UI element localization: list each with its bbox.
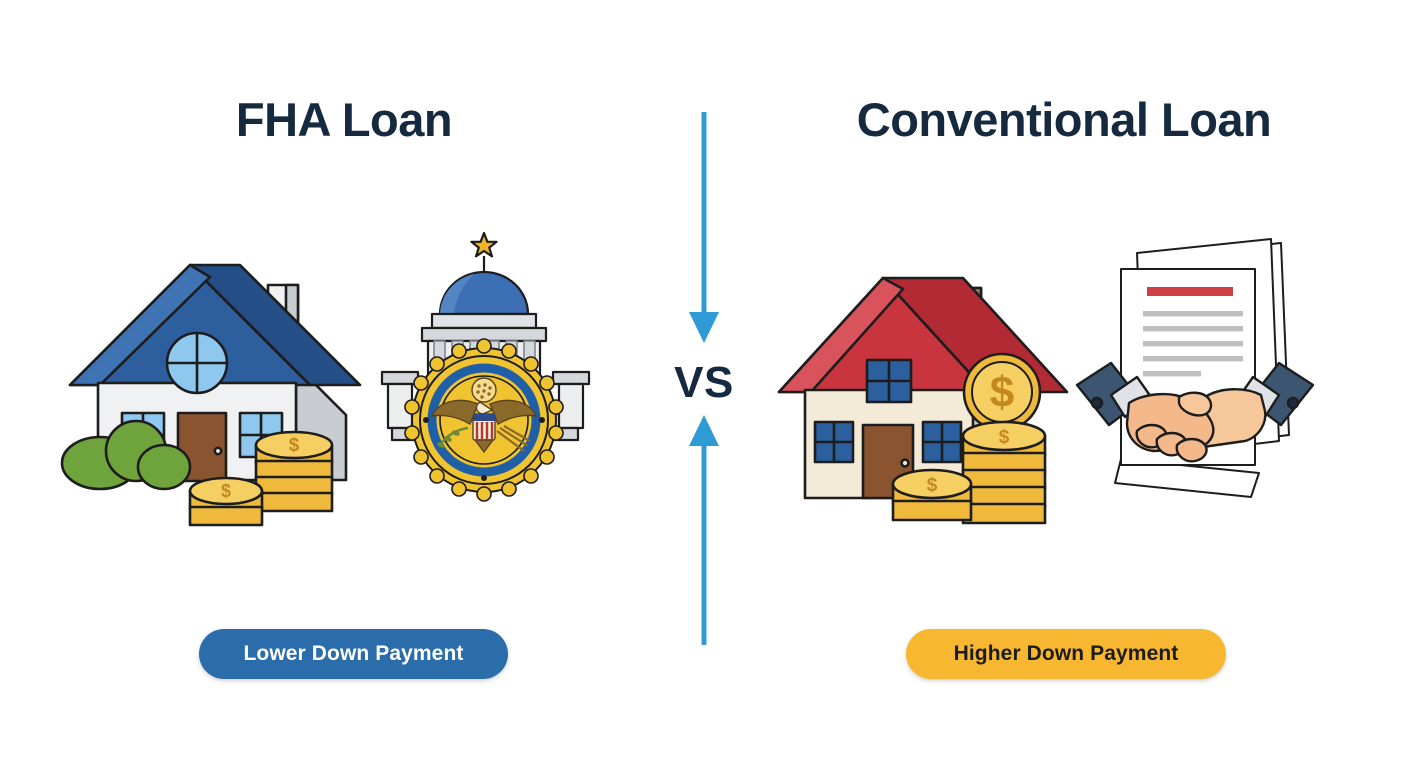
conventional-house-illustration: $ $ $ <box>775 270 1085 545</box>
svg-text:$: $ <box>990 368 1014 417</box>
badge-lower-down-payment[interactable]: Lower Down Payment <box>199 629 508 679</box>
vs-label: VS <box>640 358 768 408</box>
handshake-contract-illustration <box>1075 235 1315 525</box>
badge-higher-down-payment[interactable]: Higher Down Payment <box>906 629 1226 679</box>
svg-text:$: $ <box>999 427 1010 448</box>
fha-house-illustration: $ $ <box>60 255 410 545</box>
page-title-conventional: Conventional Loan <box>720 92 1408 147</box>
government-building-seal-illustration <box>378 222 593 522</box>
page-title-fha: FHA Loan <box>0 92 688 147</box>
svg-text:$: $ <box>289 435 300 456</box>
svg-text:$: $ <box>221 481 231 501</box>
infographic-canvas: FHA Loan Conventional Loan <box>0 0 1408 768</box>
svg-text:$: $ <box>927 475 938 496</box>
